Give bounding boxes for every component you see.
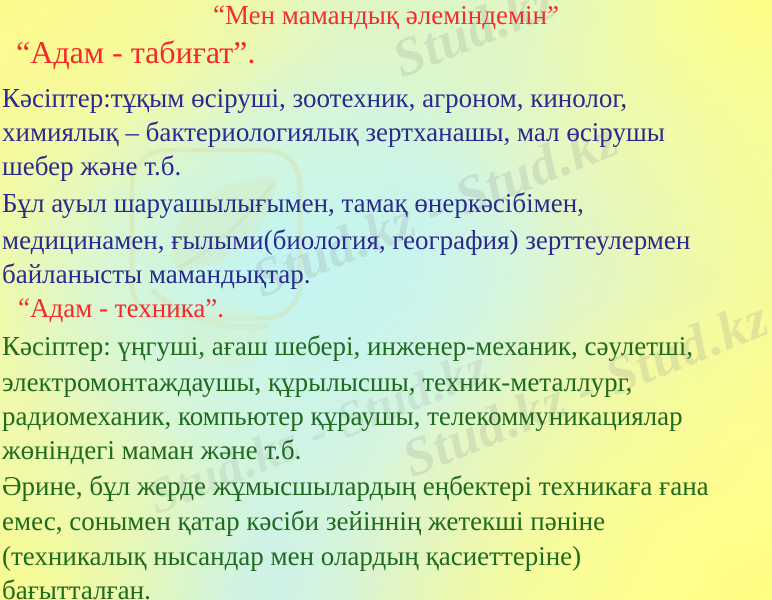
body-line: байланысты мамандықтар. — [0, 261, 772, 288]
body-line: химиялық – бактериологиялық зертханашы, … — [0, 119, 772, 146]
body-line: электромонтаждаушы, құрылысшы, техник-ме… — [0, 369, 772, 396]
body-line: Кәсіптер:тұқым өсіруші, зоотехник, агрон… — [0, 85, 772, 112]
section-heading-adam-tehnika: “Адам - техника”. — [0, 295, 772, 322]
body-line: Бұл ауыл шаруашылығымен, тамақ өнеркәсіб… — [0, 190, 772, 217]
body-line: радиомеханик, компьютер құраушы, телеком… — [0, 403, 772, 430]
body-line: жөніндегі маман және т.б. — [0, 437, 772, 464]
body-line: Кәсіптер: үңгуші, ағаш шебері, инженер-м… — [0, 333, 772, 360]
body-line: бағытталған. — [0, 577, 772, 600]
section-heading-adam-tabigat: “Адам - табиғат”. — [0, 36, 772, 68]
body-line: медицинамен, ғылыми(биология, география)… — [0, 227, 772, 254]
body-line: (техникалық нысандар мен олардың қасиетт… — [0, 543, 772, 570]
slide-title: “Мен мамандық әлеміндемін” — [0, 2, 772, 29]
body-line: Әрине, бұл жерде жұмысшылардың еңбектері… — [0, 473, 772, 500]
slide-content: “Мен мамандық әлеміндемін” “Адам - табиғ… — [0, 0, 772, 600]
body-line: емес, сонымен қатар кәсіби зейіннің жете… — [0, 508, 772, 535]
slide-canvas: Stud.kz - Stud.kz Stud.kz - Stud.kz Stud… — [0, 0, 772, 600]
body-line: шебер және т.б. — [0, 153, 772, 180]
